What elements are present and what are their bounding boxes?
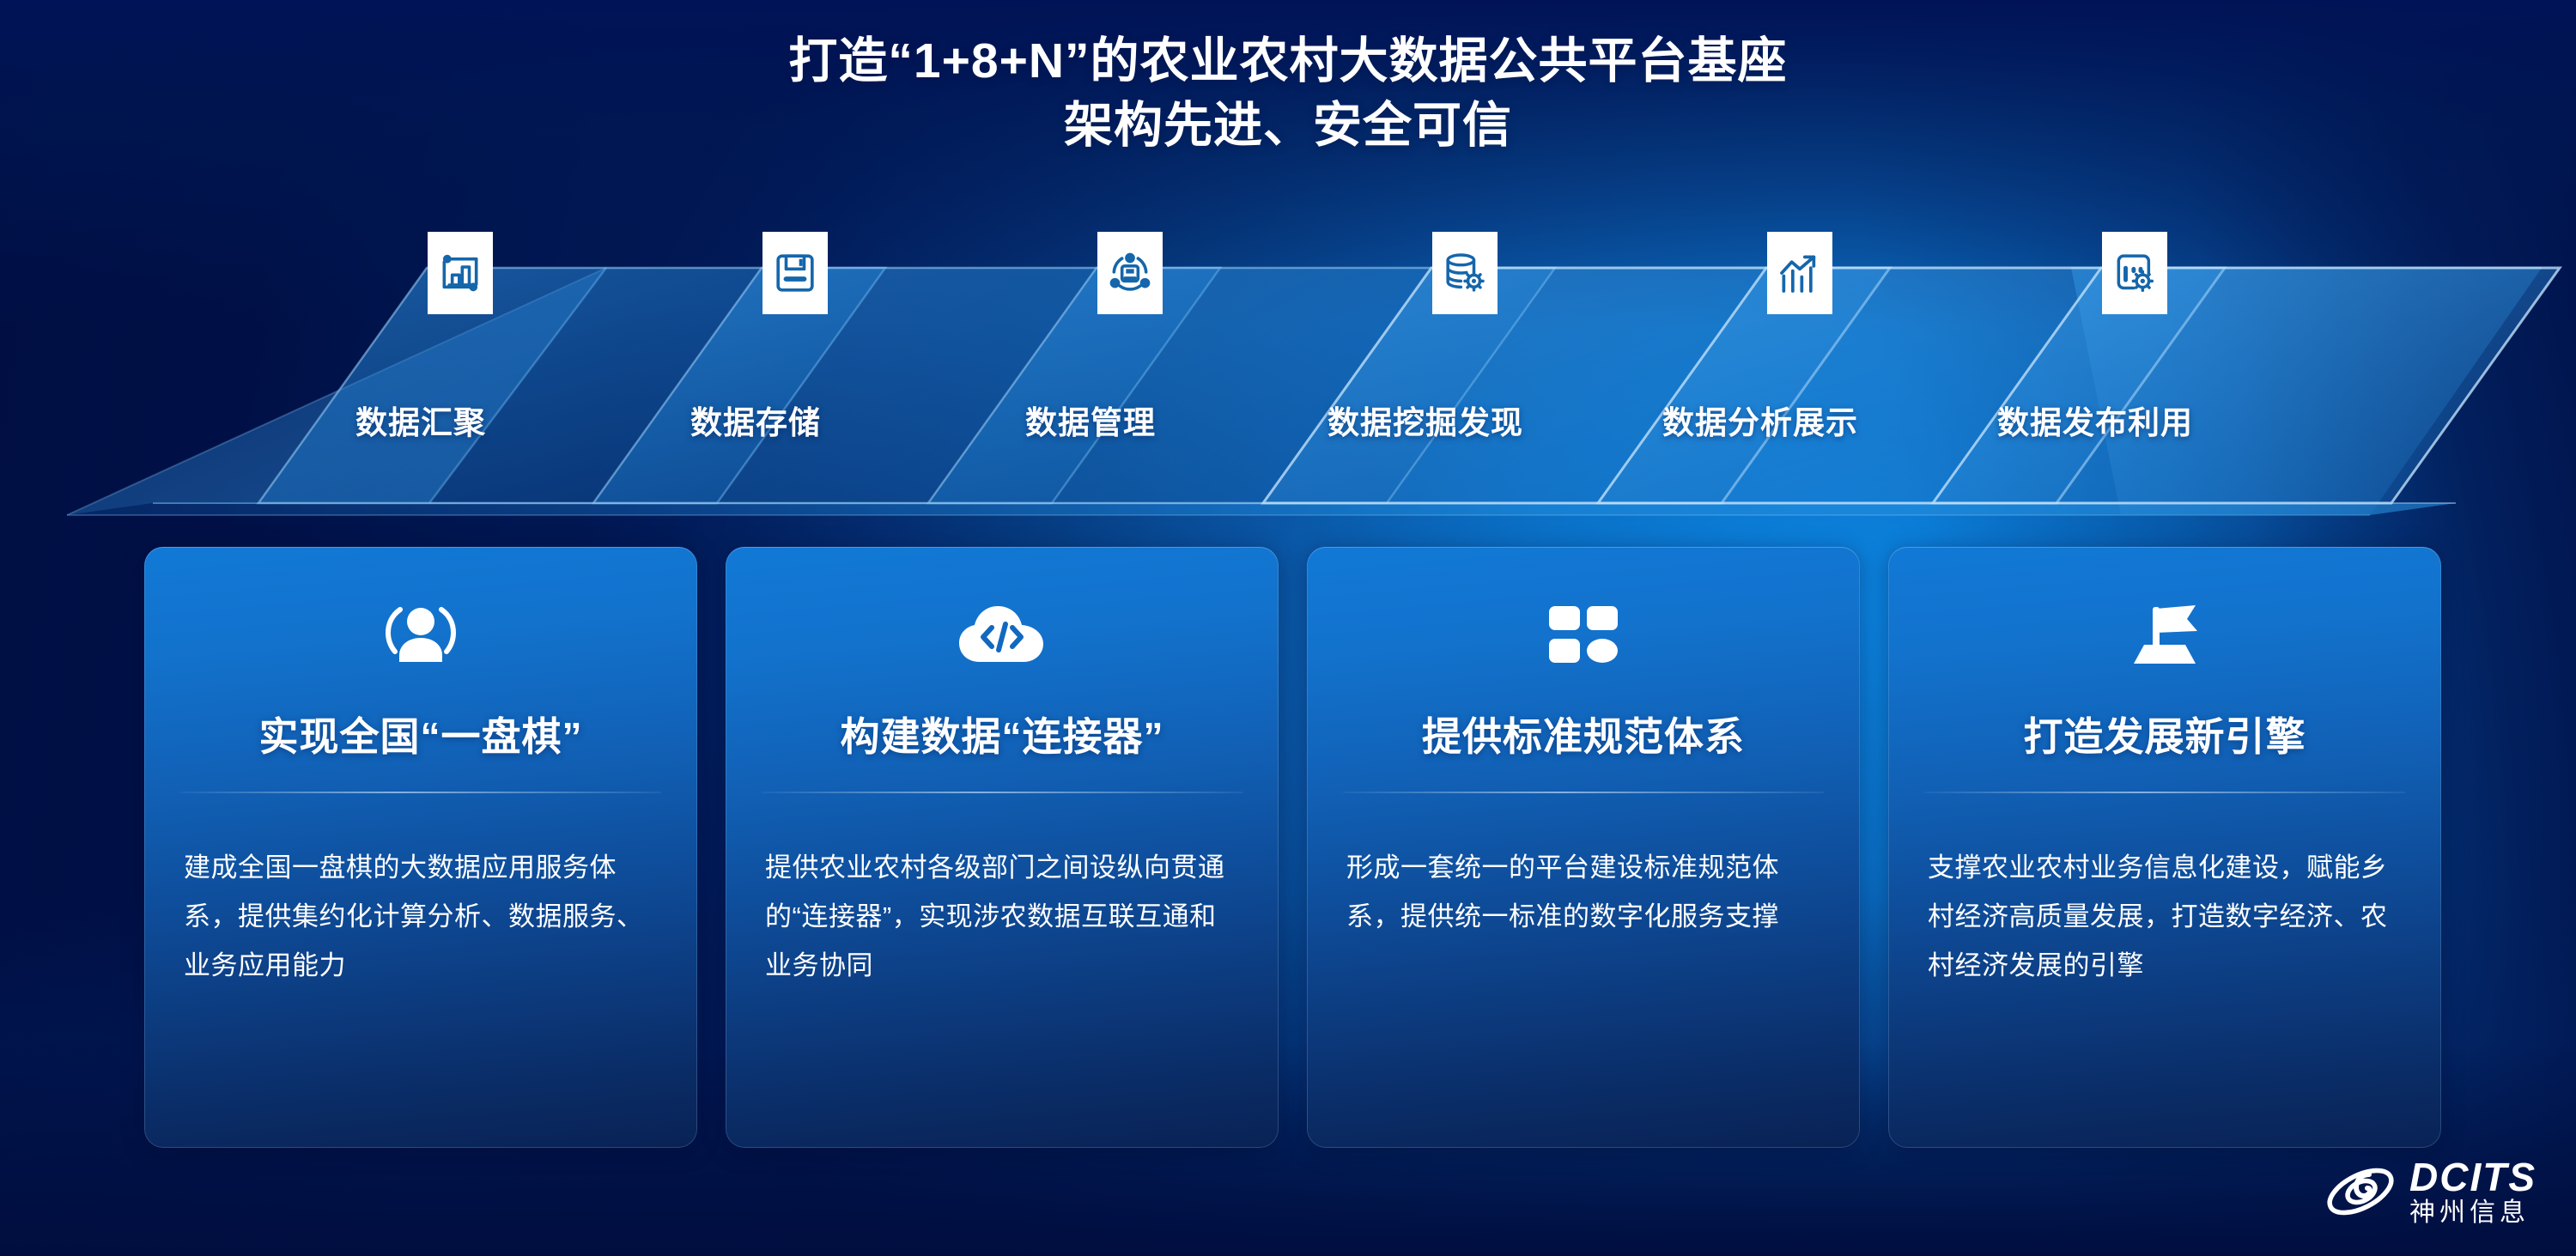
feature-card-2-body: 提供农业农村各级部门之间设纵向贯通的“连接器”，实现涉农数据互联互通和业务协同	[765, 843, 1242, 990]
feature-card-4-title: 打造发展新引擎	[1888, 706, 2441, 762]
logo-name-en: DCITS	[2409, 1156, 2537, 1198]
ribbon-stage-label-1: 数据汇聚	[355, 397, 486, 443]
feature-card-4-body: 支撑农业农村业务信息化建设，赋能乡村经济高质量发展，打造数字经济、农村经济发展的…	[1928, 843, 2405, 990]
feature-card-3-title: 提供标准规范体系	[1307, 706, 1860, 762]
feature-card-3[interactable]: 提供标准规范体系 形成一套统一的平台建设标准规范体系，提供统一标准的数字化服务支…	[1307, 547, 1860, 1148]
ribbon-stage-label-4: 数据挖掘发现	[1327, 397, 1523, 443]
ribbon-stage-label-3: 数据管理	[1025, 397, 1156, 443]
ribbon-stage-label-5: 数据分析展示	[1662, 397, 1858, 443]
dcits-logo: DCITS 神州信息	[2324, 1156, 2537, 1227]
feature-card-4-divider	[1924, 792, 2405, 793]
feature-card-1[interactable]: 实现全国“一盘棋” 建成全国一盘棋的大数据应用服务体系，提供集约化计算分析、数据…	[144, 547, 697, 1148]
ribbon-stage-label-2: 数据存储	[690, 397, 821, 443]
feature-card-1-title: 实现全国“一盘棋”	[144, 706, 697, 762]
database-gear-icon	[1432, 232, 1498, 314]
page-title-line-1: 打造“1+8+N”的农业农村大数据公共平台基座	[0, 29, 2576, 94]
feature-card-list: 实现全国“一盘棋” 建成全国一盘棋的大数据应用服务体系，提供集约化计算分析、数据…	[0, 547, 2576, 1148]
feature-card-2-title: 构建数据“连接器”	[726, 706, 1279, 762]
dcits-swoosh-icon	[2324, 1159, 2397, 1224]
feature-card-2[interactable]: 构建数据“连接器” 提供农业农村各级部门之间设纵向贯通的“连接器”，实现涉农数据…	[726, 547, 1279, 1148]
ribbon-platform	[67, 503, 2456, 515]
four-blocks-icon	[1307, 598, 1860, 672]
cloud-code-icon	[726, 598, 1279, 672]
feature-card-4[interactable]: 打造发展新引擎 支撑农业农村业务信息化建设，赋能乡村经济高质量发展，打造数字经济…	[1888, 547, 2441, 1148]
page-title: 打造“1+8+N”的农业农村大数据公共平台基座 架构先进、安全可信	[0, 29, 2576, 158]
ribbon-stage-label-6: 数据发布利用	[1997, 397, 2193, 443]
screen-gear-icon	[2102, 232, 2167, 314]
people-group-icon	[144, 598, 697, 672]
feature-card-3-divider	[1343, 792, 1824, 793]
trend-chart-icon	[1767, 232, 1832, 314]
logo-name-cn: 神州信息	[2409, 1199, 2537, 1227]
data-lifecycle-ribbon: 数据汇聚 数据存储 数据管理 数据挖掘发现 数据分析展示 数据发布利用	[0, 258, 2576, 541]
feature-card-2-divider	[762, 792, 1242, 793]
floppy-disk-icon	[762, 232, 828, 314]
feature-card-1-divider	[180, 792, 661, 793]
feature-card-3-body: 形成一套统一的平台建设标准规范体系，提供统一标准的数字化服务支撑	[1346, 843, 1824, 941]
feature-card-1-body: 建成全国一盘棋的大数据应用服务体系，提供集约化计算分析、数据服务、业务应用能力	[184, 843, 661, 990]
network-management-icon	[1097, 232, 1163, 314]
page-title-line-2: 架构先进、安全可信	[0, 94, 2576, 158]
flag-base-icon	[1888, 598, 2441, 672]
bar-chart-nodes-icon	[428, 232, 493, 314]
